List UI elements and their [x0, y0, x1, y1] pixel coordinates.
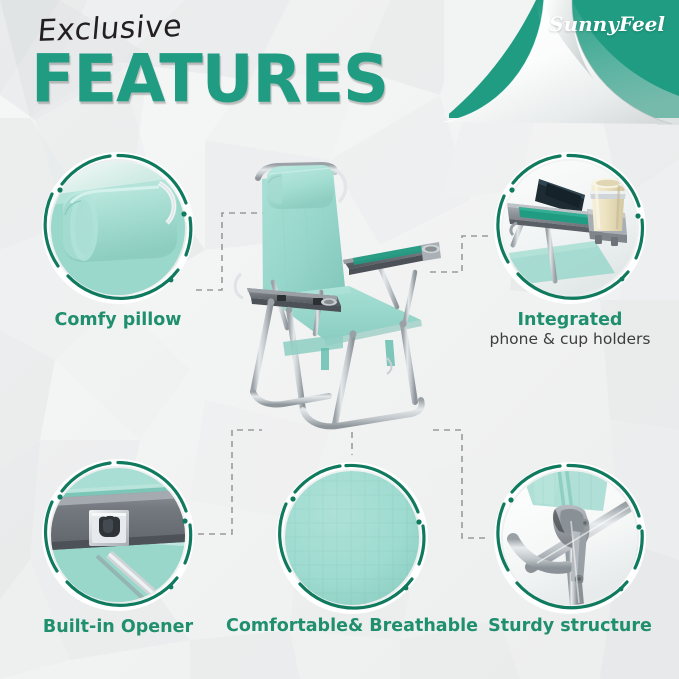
infographic-page: SunnyFeel Exclusive FEATURES — [0, 0, 679, 679]
brand-logo: SunnyFeel — [549, 12, 665, 36]
product-chair-image — [225, 152, 475, 437]
